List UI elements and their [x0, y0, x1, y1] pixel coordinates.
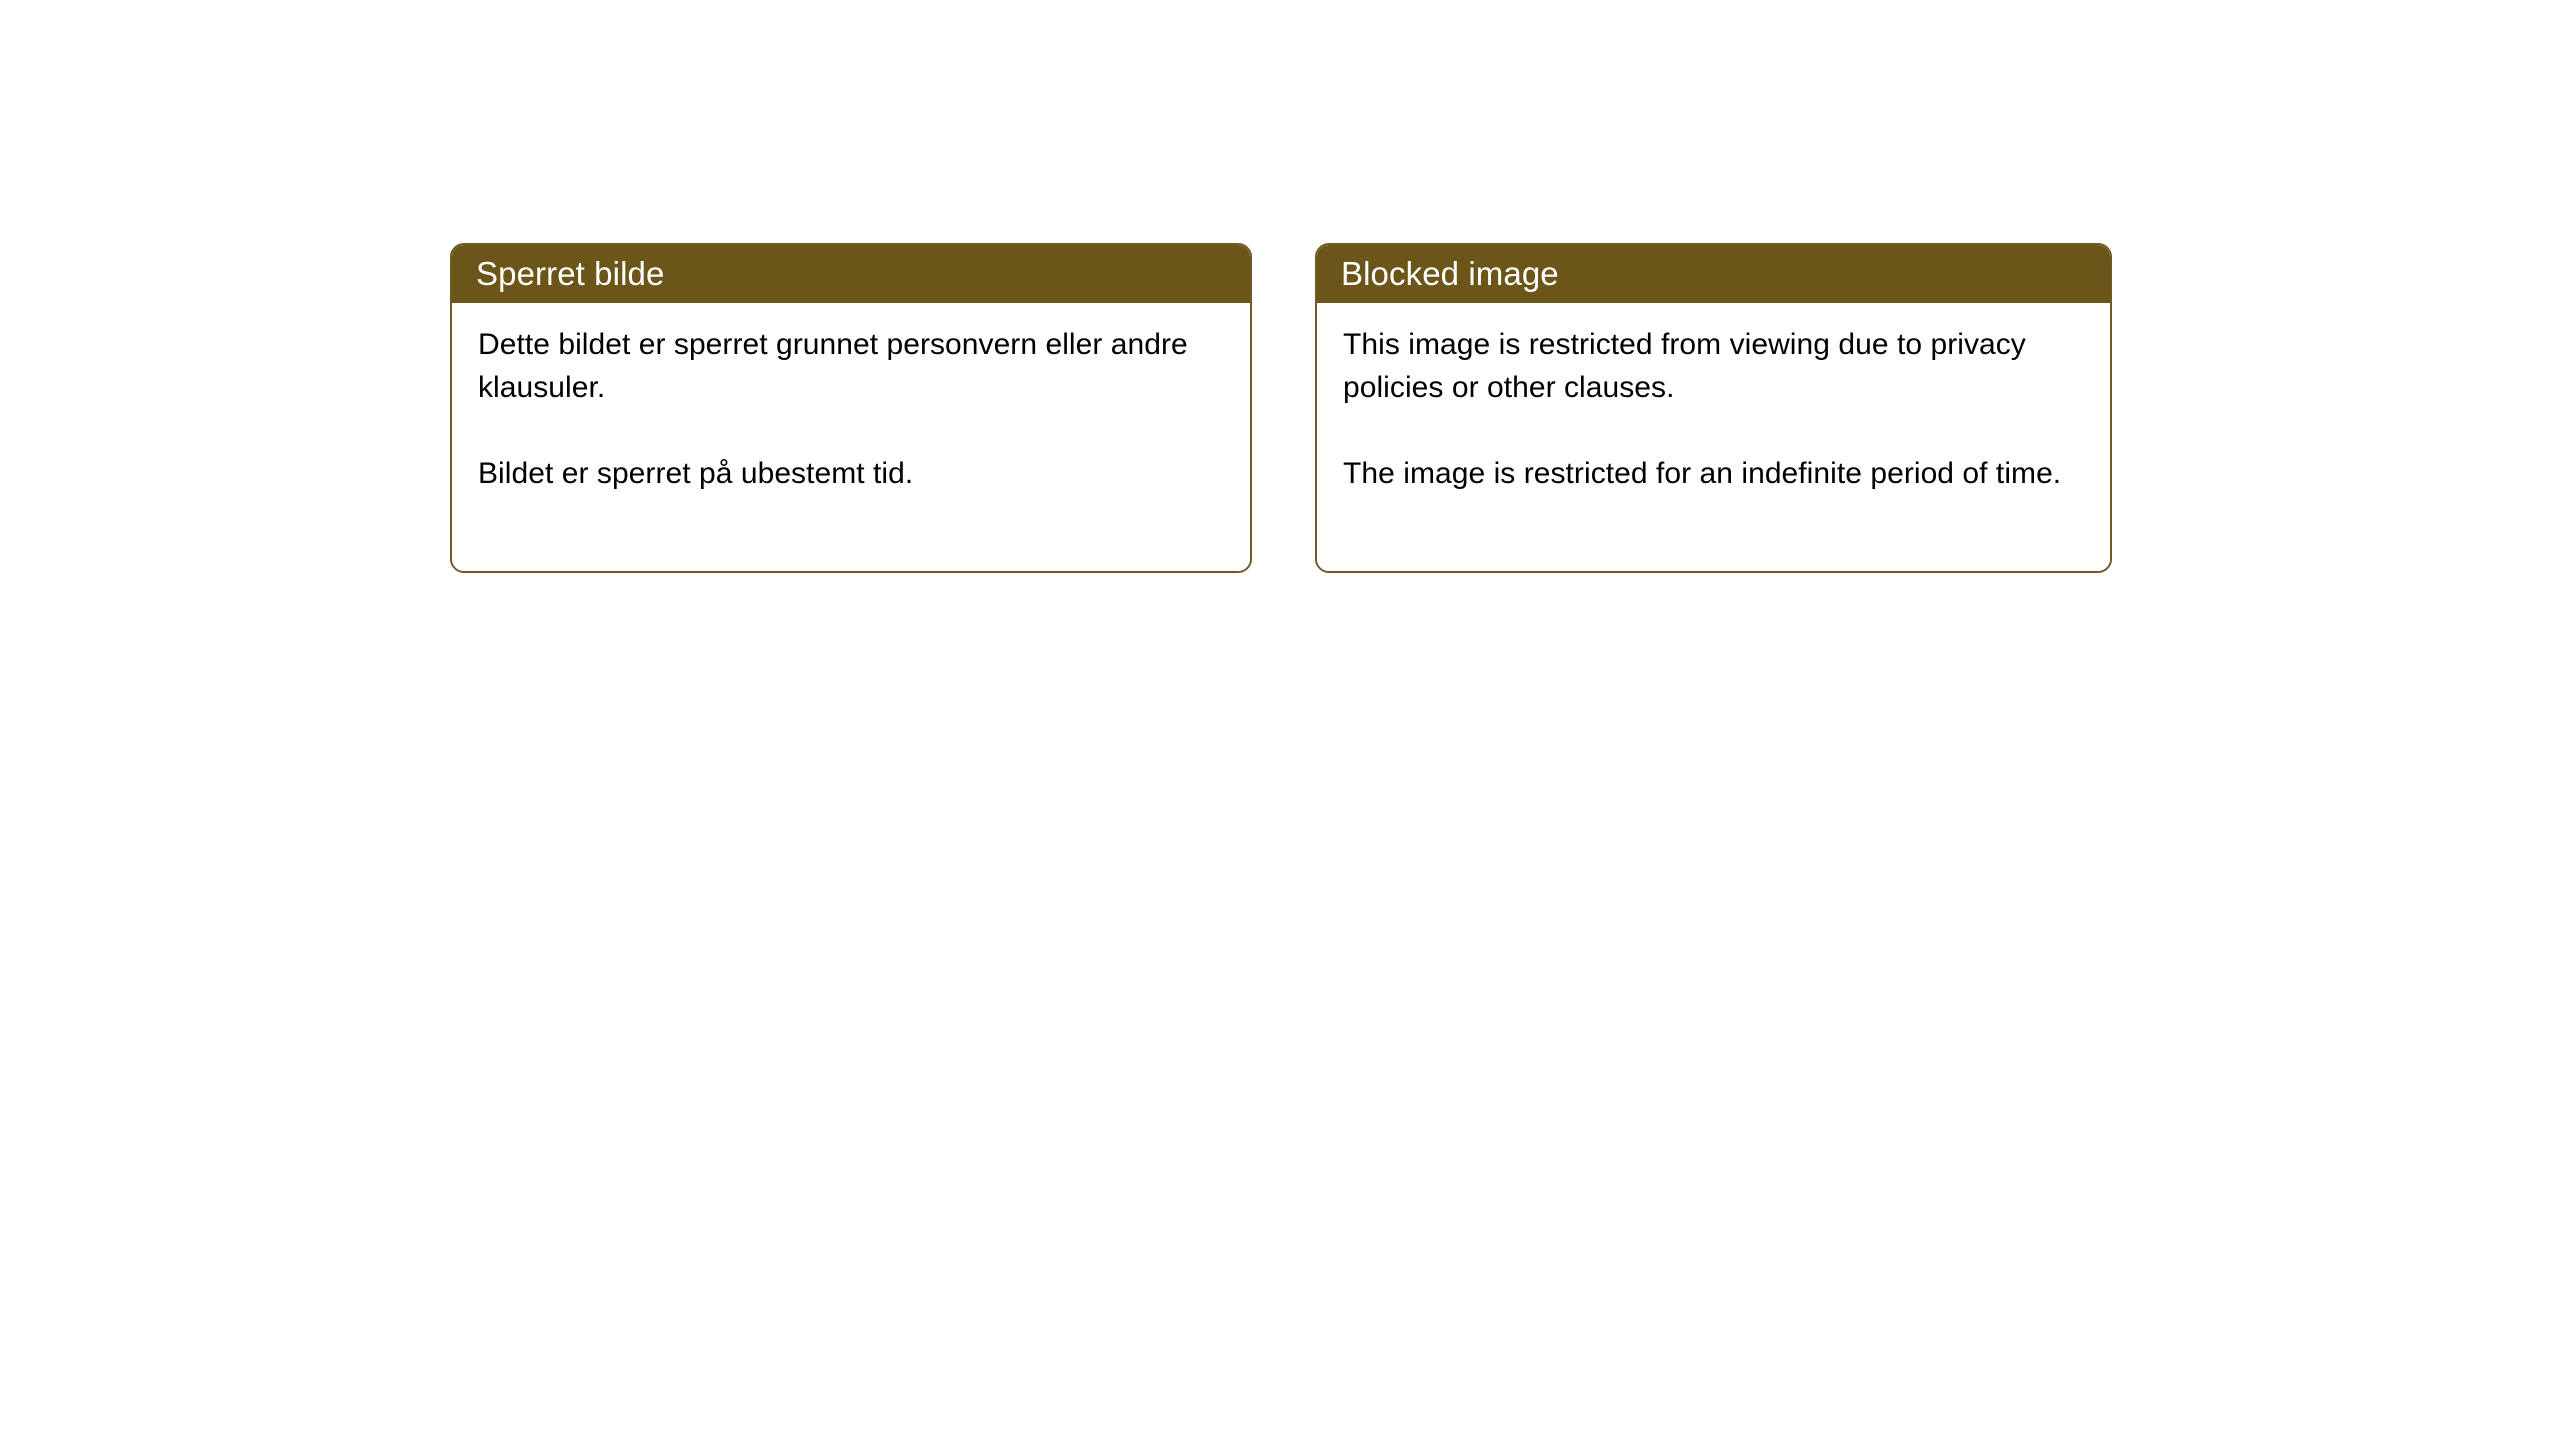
page-root: Sperret bilde Dette bildet er sperret gr… [0, 0, 2560, 1440]
blocked-image-notices: Sperret bilde Dette bildet er sperret gr… [450, 243, 2112, 573]
card-title-norwegian: Sperret bilde [476, 255, 664, 293]
card-body-english: This image is restricted from viewing du… [1317, 303, 2110, 571]
blocked-image-card-english: Blocked image This image is restricted f… [1315, 243, 2112, 573]
card-title-english: Blocked image [1341, 255, 1559, 293]
card-header-norwegian: Sperret bilde [452, 245, 1250, 303]
card-paragraph-duration-english: The image is restricted for an indefinit… [1343, 452, 2088, 495]
blocked-image-card-norwegian: Sperret bilde Dette bildet er sperret gr… [450, 243, 1252, 573]
card-paragraph-duration-norwegian: Bildet er sperret på ubestemt tid. [478, 452, 1228, 495]
card-paragraph-reason-norwegian: Dette bildet er sperret grunnet personve… [478, 323, 1228, 409]
card-body-norwegian: Dette bildet er sperret grunnet personve… [452, 303, 1250, 571]
card-header-english: Blocked image [1317, 245, 2110, 303]
card-paragraph-reason-english: This image is restricted from viewing du… [1343, 323, 2088, 409]
